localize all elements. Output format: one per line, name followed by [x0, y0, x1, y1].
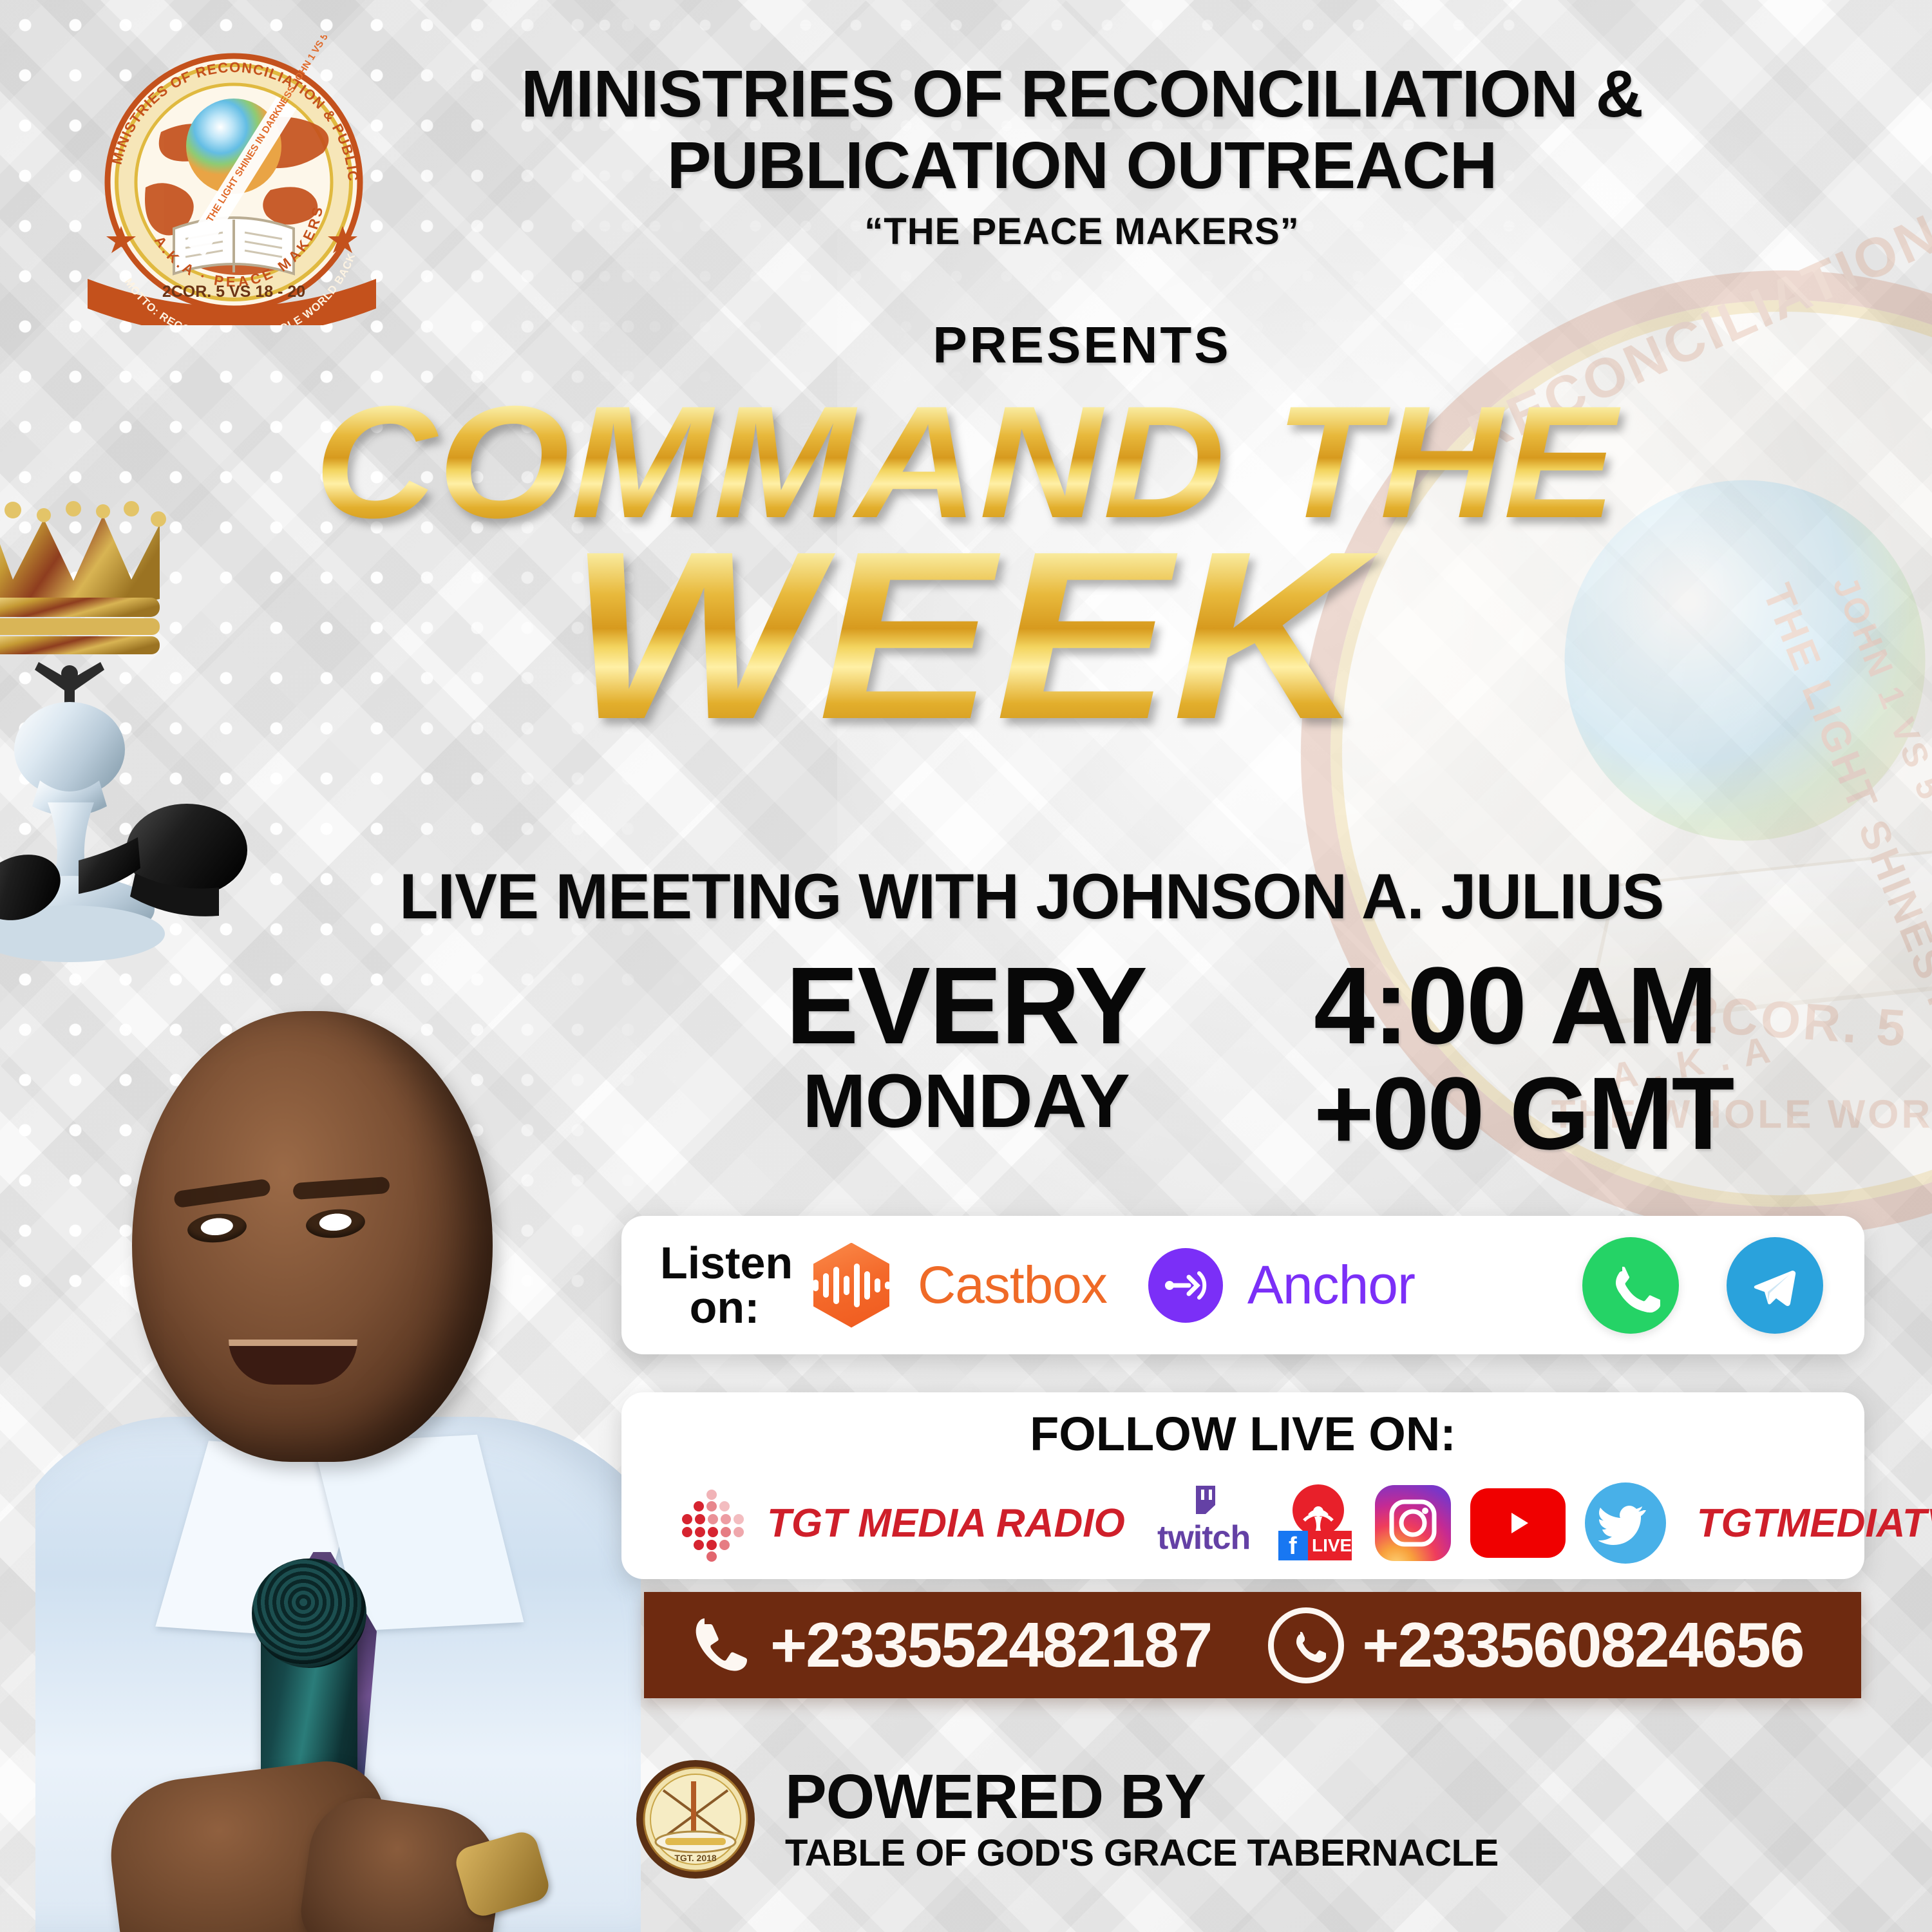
schedule-time-block: 4:00 AM +00 GMT	[1314, 953, 1855, 1165]
castbox-waveform	[813, 1263, 891, 1308]
gold-crown-icon	[0, 501, 166, 654]
microphone-head	[252, 1558, 366, 1668]
listen-on-panel: Listen on: Castbox	[621, 1216, 1864, 1354]
speaker-photo	[35, 992, 641, 1932]
svg-text:f: f	[1289, 1533, 1297, 1560]
svg-text:LIVE: LIVE	[1312, 1535, 1352, 1555]
svg-text:twitch: twitch	[1157, 1519, 1250, 1557]
schedule-frequency: EVERY	[760, 953, 1172, 1059]
whatsapp-contact-icon[interactable]	[1268, 1607, 1344, 1683]
anchor-label[interactable]: Anchor	[1247, 1254, 1415, 1316]
radio-dots-icon[interactable]	[678, 1488, 748, 1558]
listen-on-label: Listen on:	[660, 1241, 789, 1329]
follow-live-title: FOLLOW LIVE ON:	[621, 1406, 1864, 1461]
tabernacle-seal-logo: TGT. 2018	[634, 1758, 757, 1880]
telegram-icon[interactable]	[1727, 1237, 1823, 1334]
logo-scripture-ref: 2COR. 5 VS 18 - 20	[162, 283, 305, 301]
schedule-day-block: EVERY MONDAY	[760, 953, 1172, 1139]
speaker-line: LIVE MEETING WITH JOHNSON A. JULIUS	[399, 860, 1803, 933]
twitch-icon[interactable]: twitch	[1156, 1484, 1253, 1562]
tabernacle-seal-text: TGT. 2018	[674, 1853, 717, 1863]
speaker-head	[132, 1011, 493, 1462]
event-title: COMMAND THE WEEK	[0, 386, 1932, 749]
org-name-line1: MINISTRIES OF RECONCILIATION &	[489, 58, 1674, 129]
whatsapp-number[interactable]: +233560824656	[1362, 1609, 1803, 1681]
powered-by-label: POWERED BY	[785, 1765, 1499, 1829]
presents-label: PRESENTS	[489, 316, 1674, 375]
phone-number[interactable]: +233552482187	[770, 1609, 1211, 1681]
schedule-time: 4:00 AM	[1314, 953, 1855, 1059]
contact-bar: +233552482187 +233560824656	[644, 1592, 1861, 1698]
crown-and-chess-graphic	[0, 489, 264, 979]
org-name-line2: PUBLICATION OUTREACH	[489, 129, 1674, 201]
schedule-timezone: +00 GMT	[1314, 1062, 1855, 1165]
phone-icon[interactable]	[685, 1612, 752, 1679]
flyer-canvas: RECONCILIATION THE LIGHT SHINES IN DARKN…	[0, 0, 1932, 1932]
tgt-media-radio-label[interactable]: TGT MEDIA RADIO	[767, 1501, 1125, 1546]
tgtmediatv-label[interactable]: TGTMEDIATV	[1697, 1501, 1932, 1546]
whatsapp-icon[interactable]	[1582, 1237, 1679, 1334]
listen-label-line2: on:	[660, 1285, 789, 1330]
event-title-line2: WEEK	[0, 522, 1932, 749]
follow-live-panel: FOLLOW LIVE ON: TGT MEDIA RADIO twitch	[621, 1392, 1864, 1579]
instagram-icon[interactable]	[1375, 1485, 1451, 1561]
organization-logo: THE LIGHT SHINES IN DARKNESS JOHN 1 VS 5…	[84, 35, 380, 325]
facebook-live-icon[interactable]: f LIVE	[1272, 1484, 1356, 1562]
schedule-day: MONDAY	[760, 1063, 1172, 1139]
anchor-icon[interactable]	[1148, 1248, 1223, 1323]
youtube-icon[interactable]	[1470, 1488, 1566, 1558]
org-alias: “THE PEACE MAKERS”	[489, 210, 1674, 253]
twitter-icon[interactable]	[1585, 1482, 1666, 1564]
powered-by-organization: TABLE OF GOD'S GRACE TABERNACLE	[785, 1833, 1499, 1874]
listen-label-line1: Listen	[660, 1241, 789, 1285]
powered-by-block: TGT. 2018 POWERED BY TABLE OF GOD'S GRAC…	[634, 1739, 1600, 1900]
powered-by-text: POWERED BY TABLE OF GOD'S GRACE TABERNAC…	[785, 1765, 1499, 1874]
header-block: MINISTRIES OF RECONCILIATION & PUBLICATI…	[489, 58, 1674, 253]
castbox-label[interactable]: Castbox	[918, 1255, 1107, 1316]
castbox-icon[interactable]	[813, 1243, 889, 1328]
